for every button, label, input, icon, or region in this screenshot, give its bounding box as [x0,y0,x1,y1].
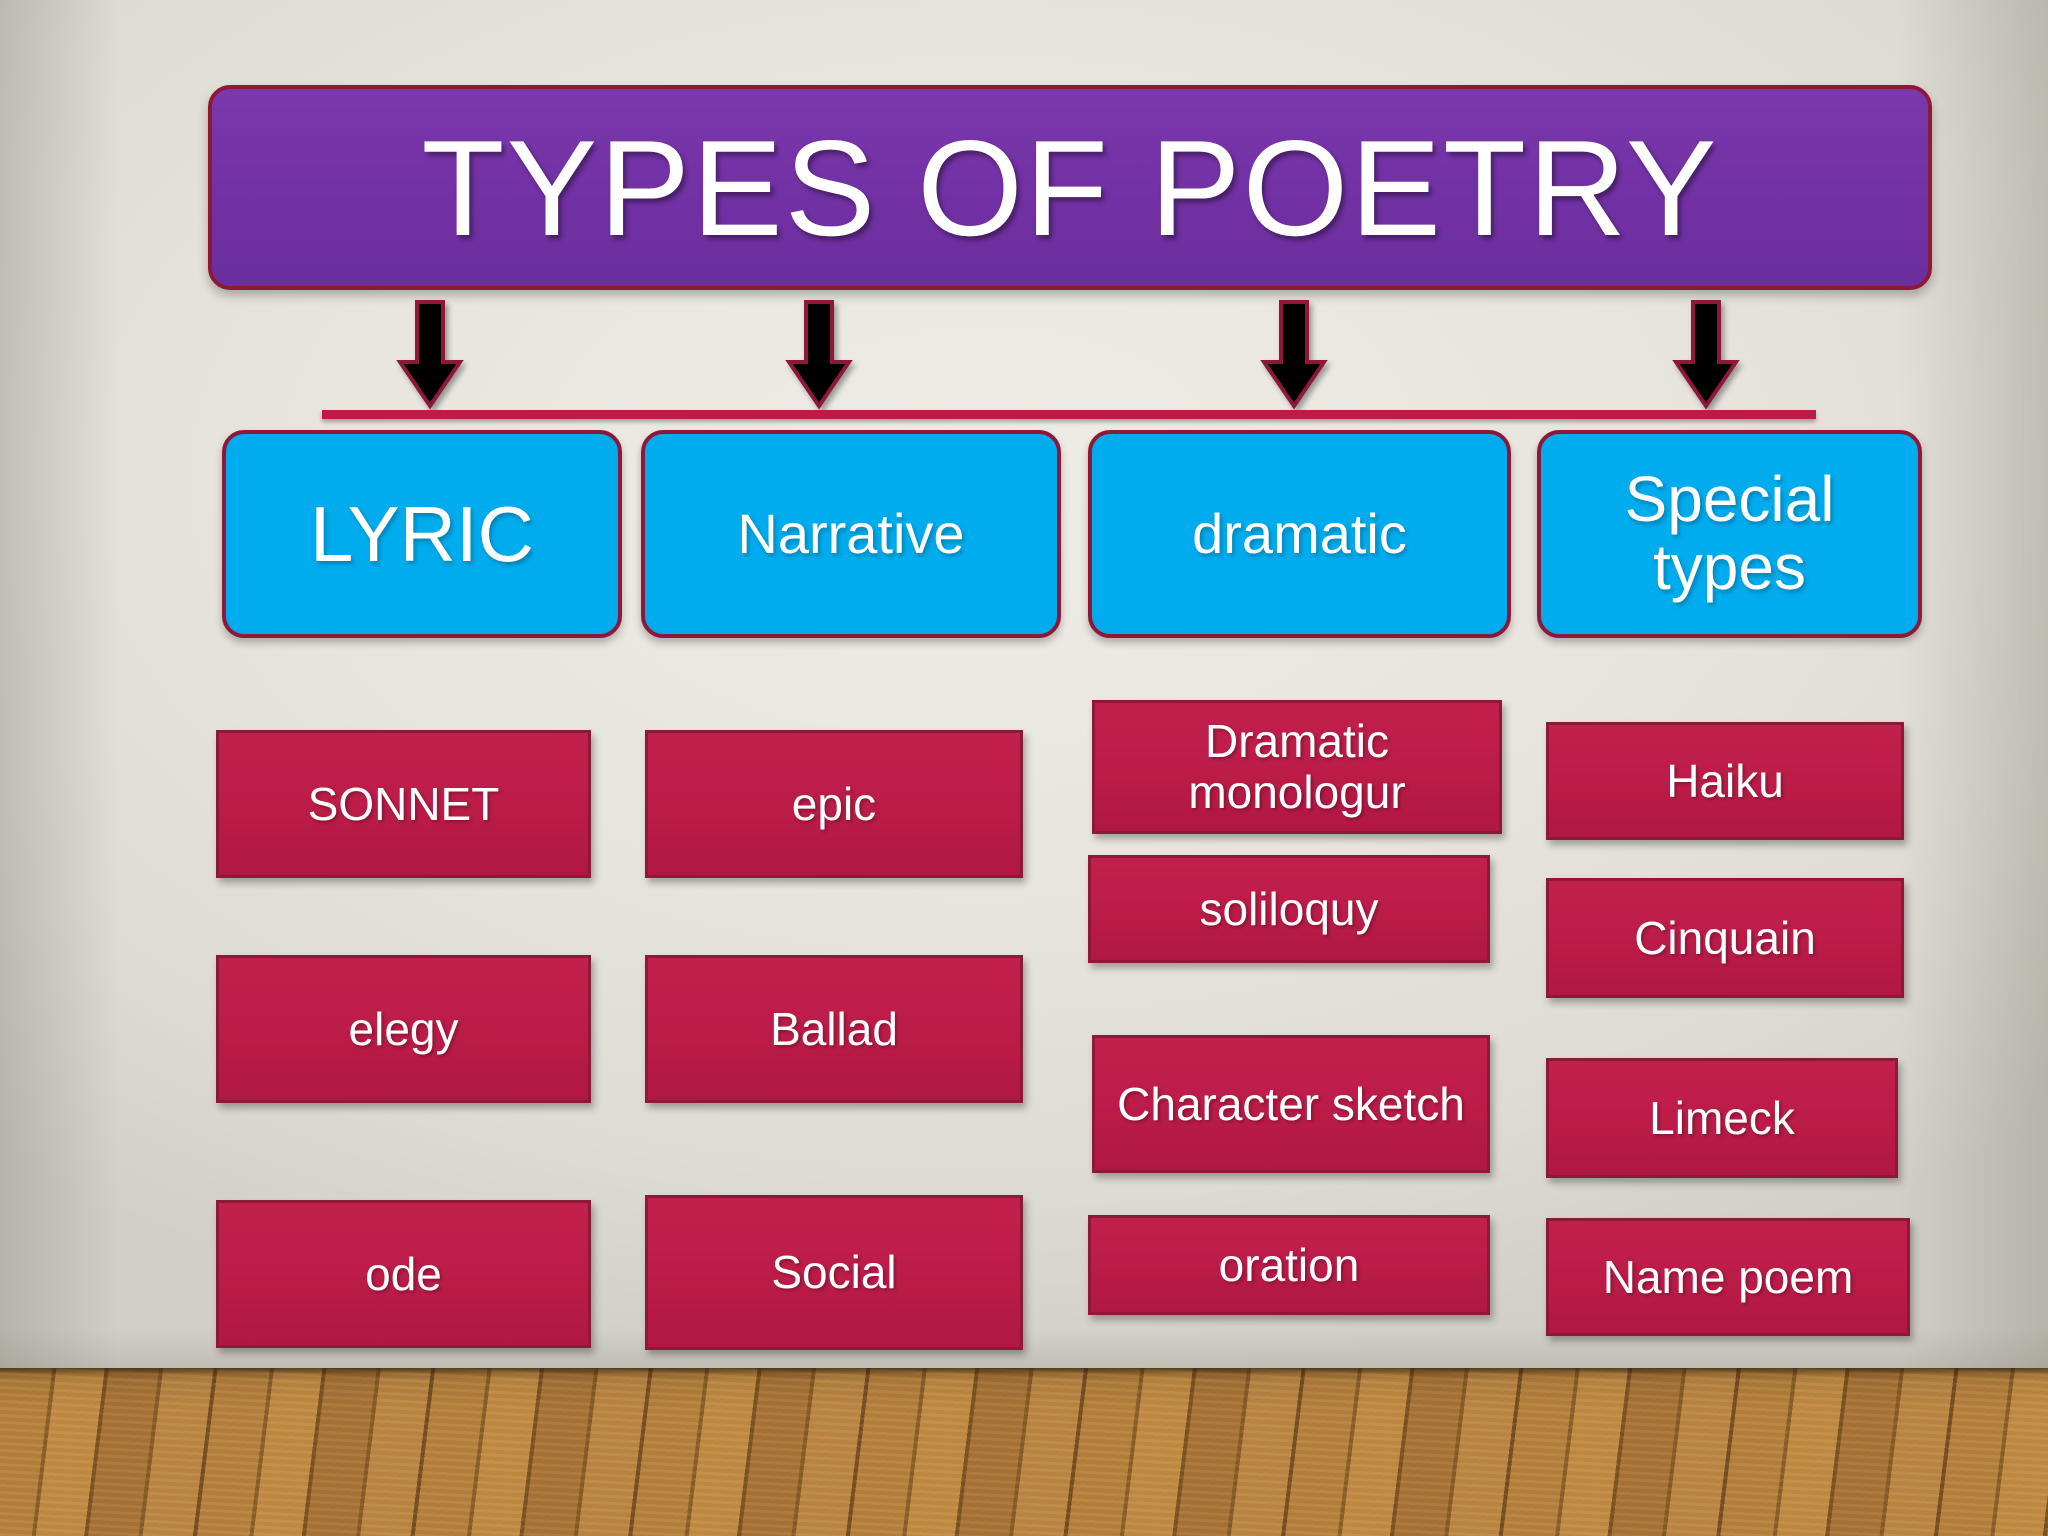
slide-title-banner: TYPES OF POETRY [208,85,1932,290]
item-label: Ballad [760,1004,908,1055]
category-box-special-types[interactable]: Special types [1537,430,1922,638]
item-box[interactable]: ode [216,1200,591,1348]
category-label: Narrative [729,504,972,563]
category-label: dramatic [1184,504,1415,563]
item-label: Cinquain [1624,913,1826,964]
item-label: soliloquy [1190,884,1389,935]
wood-floor [0,1368,2048,1536]
item-label: Name poem [1593,1252,1864,1303]
item-box[interactable]: oration [1088,1215,1490,1315]
item-label: ode [355,1249,452,1300]
item-box[interactable]: Character sketch [1092,1035,1490,1173]
item-box[interactable]: Cinquain [1546,878,1904,998]
item-box[interactable]: Haiku [1546,722,1904,840]
down-arrow-icon [1672,300,1740,410]
item-box[interactable]: Dramatic monologur [1092,700,1502,834]
category-box-lyric[interactable]: LYRIC [222,430,622,638]
wall-shadow-left [0,0,120,1368]
item-label: Character sketch [1107,1079,1475,1130]
item-box[interactable]: Ballad [645,955,1023,1103]
down-arrow-icon [785,300,853,410]
item-box[interactable]: Name poem [1546,1218,1910,1336]
item-label: Limeck [1639,1093,1805,1144]
page-title: TYPES OF POETRY [421,120,1718,256]
item-label: SONNET [298,779,510,830]
item-box[interactable]: Social [645,1195,1023,1350]
category-box-narrative[interactable]: Narrative [641,430,1061,638]
item-box[interactable]: elegy [216,955,591,1103]
down-arrow-icon [396,300,464,410]
divider-line [322,410,1816,419]
item-label: Social [761,1247,906,1298]
item-label: Dramatic monologur [1095,716,1499,817]
item-label: oration [1209,1240,1370,1291]
category-box-dramatic[interactable]: dramatic [1088,430,1511,638]
item-box[interactable]: soliloquy [1088,855,1490,963]
item-box[interactable]: SONNET [216,730,591,878]
item-label: epic [782,779,886,830]
item-label: elegy [339,1004,469,1055]
item-box[interactable]: epic [645,730,1023,878]
item-label: Haiku [1656,756,1794,807]
down-arrow-icon [1260,300,1328,410]
category-label: LYRIC [302,493,542,576]
category-label: Special types [1541,466,1918,602]
slide-canvas: TYPES OF POETRY LYRIC Narrative dramatic… [0,0,2048,1536]
item-box[interactable]: Limeck [1546,1058,1898,1178]
